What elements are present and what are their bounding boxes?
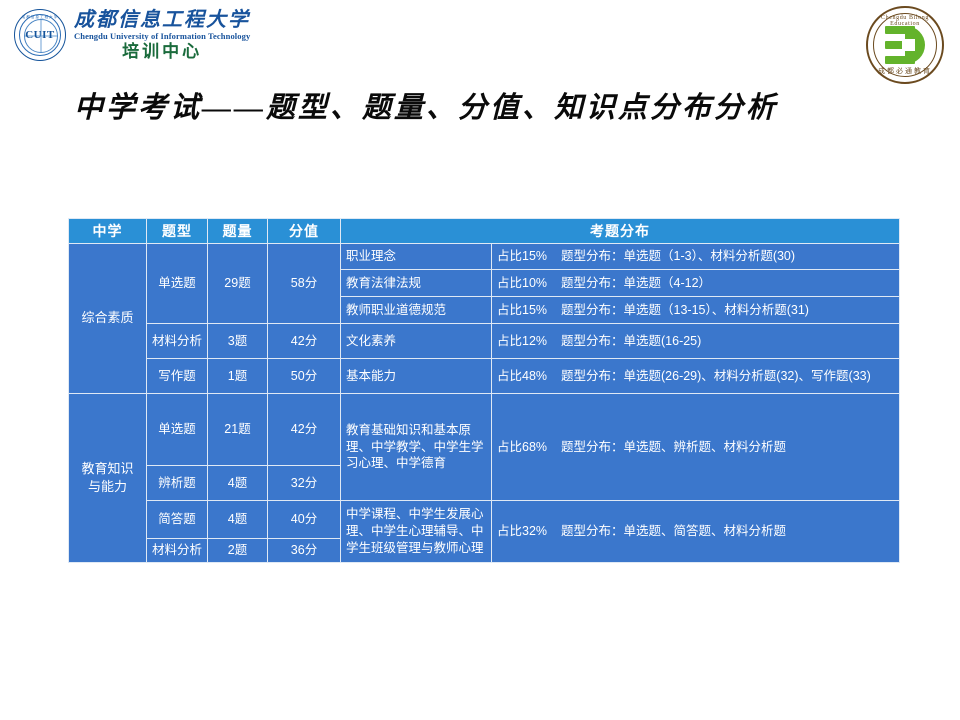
score-cell-0-0: 58分: [268, 244, 340, 323]
header-question-type: 题型: [147, 219, 207, 243]
subject-cell-1: 教育知识 与能力: [69, 394, 146, 562]
distribution-percent: 占比15%: [497, 302, 553, 319]
distribution-percent: 占比32%: [497, 523, 553, 540]
distribution-percent: 占比12%: [497, 333, 553, 350]
type-cell-1-1: 辨析题: [147, 466, 207, 500]
distribution-percent: 占比68%: [497, 439, 553, 456]
distribution-desc: 题型分布：单选题（4-12）: [561, 276, 711, 290]
header-distribution: 考题分布: [341, 219, 899, 243]
distribution-desc: 题型分布：单选题(26-29)、材料分析题(32)、写作题(33): [561, 369, 871, 383]
table-row: 综合素质 单选题 29题 58分 职业理念 占比15%题型分布：单选题（1-3）…: [69, 244, 899, 269]
subject-line-2: 与能力: [88, 479, 127, 494]
cuit-acronym: CUIT: [15, 29, 65, 41]
header-subject: 中学: [69, 219, 146, 243]
slide-canvas: 成都信息工程大学 CUIT 成都信息工程大学 Chengdu Universit…: [0, 0, 960, 720]
score-cell-1-0: 42分: [268, 394, 340, 465]
count-cell-0-0: 29题: [208, 244, 267, 323]
seal-top-text: 成都信息工程大学: [15, 15, 65, 20]
knowledge-cell-0-0: 职业理念: [341, 244, 491, 269]
distribution-cell-1-1: 占比32%题型分布：单选题、简答题、材料分析题: [492, 501, 899, 562]
table-row: 材料分析 3题 42分 文化素养 占比12%题型分布：单选题(16-25): [69, 324, 899, 358]
bilong-logo: Chengdu Bilong Education 成都必通教育: [866, 6, 944, 84]
table-header-row: 中学 题型 题量 分值 考题分布: [69, 219, 899, 243]
type-cell-1-0: 单选题: [147, 394, 207, 465]
distribution-cell-1-0: 占比68%题型分布：单选题、辨析题、材料分析题: [492, 394, 899, 500]
cuit-seal-icon: 成都信息工程大学 CUIT: [14, 9, 66, 61]
distribution-cell-0-1: 占比10%题型分布：单选题（4-12）: [492, 270, 899, 296]
count-cell-1-0: 21题: [208, 394, 267, 465]
type-cell-0-2: 写作题: [147, 359, 207, 393]
exam-distribution-table: 中学 题型 题量 分值 考题分布 综合素质 单选题 29题 58分 职业理念 占…: [68, 218, 900, 563]
knowledge-cell-0-1: 教育法律法规: [341, 270, 491, 296]
distribution-percent: 占比15%: [497, 248, 553, 265]
cuit-cn-name: 成都信息工程大学: [74, 10, 250, 31]
distribution-percent: 占比10%: [497, 275, 553, 292]
distribution-cell-0-0: 占比15%题型分布：单选题（1-3）、材料分析题(30): [492, 244, 899, 269]
score-cell-0-1: 42分: [268, 324, 340, 358]
distribution-desc: 题型分布：单选题（1-3）、材料分析题(30): [561, 249, 795, 263]
cuit-name-block: 成都信息工程大学 Chengdu University of Informati…: [74, 10, 250, 61]
score-cell-1-3: 36分: [268, 539, 340, 562]
distribution-desc: 题型分布：单选题、辨析题、材料分析题: [561, 440, 786, 454]
distribution-desc: 题型分布：单选题(16-25): [561, 334, 701, 348]
type-cell-1-3: 材料分析: [147, 539, 207, 562]
count-cell-1-1: 4题: [208, 466, 267, 500]
type-cell-0-0: 单选题: [147, 244, 207, 323]
bilong-cn-text: 成都必通教育: [866, 66, 944, 76]
knowledge-cell-0-3: 文化素养: [341, 324, 491, 358]
distribution-percent: 占比48%: [497, 368, 553, 385]
distribution-cell-0-2: 占比15%题型分布：单选题（13-15）、材料分析题(31): [492, 297, 899, 323]
count-cell-1-3: 2题: [208, 539, 267, 562]
table-row: 简答题 4题 40分 中学课程、中学生发展心理、中学生心理辅导、中学生班级管理与…: [69, 501, 899, 538]
table-row: 教育知识 与能力 单选题 21题 42分 教育基础知识和基本原理、中学教学、中学…: [69, 394, 899, 465]
cuit-logo: 成都信息工程大学 CUIT 成都信息工程大学 Chengdu Universit…: [14, 4, 264, 66]
type-cell-1-2: 简答题: [147, 501, 207, 538]
distribution-cell-0-4: 占比48%题型分布：单选题(26-29)、材料分析题(32)、写作题(33): [492, 359, 899, 393]
knowledge-cell-0-4: 基本能力: [341, 359, 491, 393]
score-cell-1-2: 40分: [268, 501, 340, 538]
count-cell-0-2: 1题: [208, 359, 267, 393]
count-cell-0-1: 3题: [208, 324, 267, 358]
score-cell-0-2: 50分: [268, 359, 340, 393]
page-title: 中学考试——题型、题量、分值、知识点分布分析: [74, 84, 778, 126]
subject-cell-0: 综合素质: [69, 244, 146, 393]
header-question-count: 题量: [208, 219, 267, 243]
cuit-sub-name: 培训中心: [74, 43, 250, 61]
distribution-desc: 题型分布：单选题（13-15）、材料分析题(31): [561, 303, 809, 317]
knowledge-cell-1-1: 中学课程、中学生发展心理、中学生心理辅导、中学生班级管理与教师心理: [341, 501, 491, 562]
knowledge-cell-0-2: 教师职业道德规范: [341, 297, 491, 323]
score-cell-1-1: 32分: [268, 466, 340, 500]
type-cell-0-1: 材料分析: [147, 324, 207, 358]
bilong-b-mark-icon: [885, 26, 925, 64]
header-score: 分值: [268, 219, 340, 243]
distribution-cell-0-3: 占比12%题型分布：单选题(16-25): [492, 324, 899, 358]
knowledge-cell-1-0: 教育基础知识和基本原理、中学教学、中学生学习心理、中学德育: [341, 394, 491, 500]
distribution-desc: 题型分布：单选题、简答题、材料分析题: [561, 524, 786, 538]
cuit-en-name: Chengdu University of Information Techno…: [74, 32, 250, 41]
subject-line-1: 教育知识: [81, 461, 133, 476]
table-row: 写作题 1题 50分 基本能力 占比48%题型分布：单选题(26-29)、材料分…: [69, 359, 899, 393]
count-cell-1-2: 4题: [208, 501, 267, 538]
